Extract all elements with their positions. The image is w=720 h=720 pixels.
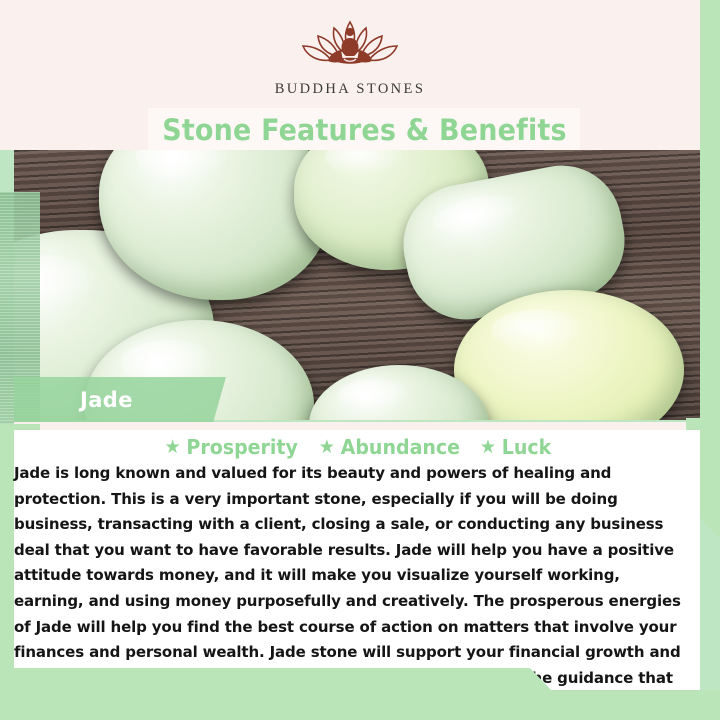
right-green-band xyxy=(700,0,720,420)
stone-benefits-infographic: BUDDHA STONES Stone Features & Benefits … xyxy=(0,0,720,720)
lotus-meditation-icon xyxy=(285,16,415,78)
header-title-band: Stone Features & Benefits xyxy=(148,108,580,152)
benefit-item-luck: ★ Luck xyxy=(480,435,551,459)
benefit-item-prosperity: ★ Prosperity xyxy=(164,435,297,459)
brand-name: BUDDHA STONES xyxy=(275,81,426,98)
star-icon: ★ xyxy=(164,438,180,457)
benefit-label: Luck xyxy=(502,435,552,459)
star-icon: ★ xyxy=(319,438,335,457)
benefit-item-abundance: ★ Abundance xyxy=(319,435,460,459)
page-title: Stone Features & Benefits xyxy=(162,113,567,147)
bottom-green-base xyxy=(0,690,720,720)
stone-name-label: Jade xyxy=(80,388,133,412)
star-icon: ★ xyxy=(480,438,496,457)
benefits-row: ★ Prosperity ★ Abundance ★ Luck xyxy=(14,432,700,462)
benefit-label: Abundance xyxy=(341,435,460,459)
stone-name-band: Jade xyxy=(14,377,226,422)
benefit-label: Prosperity xyxy=(186,435,298,459)
